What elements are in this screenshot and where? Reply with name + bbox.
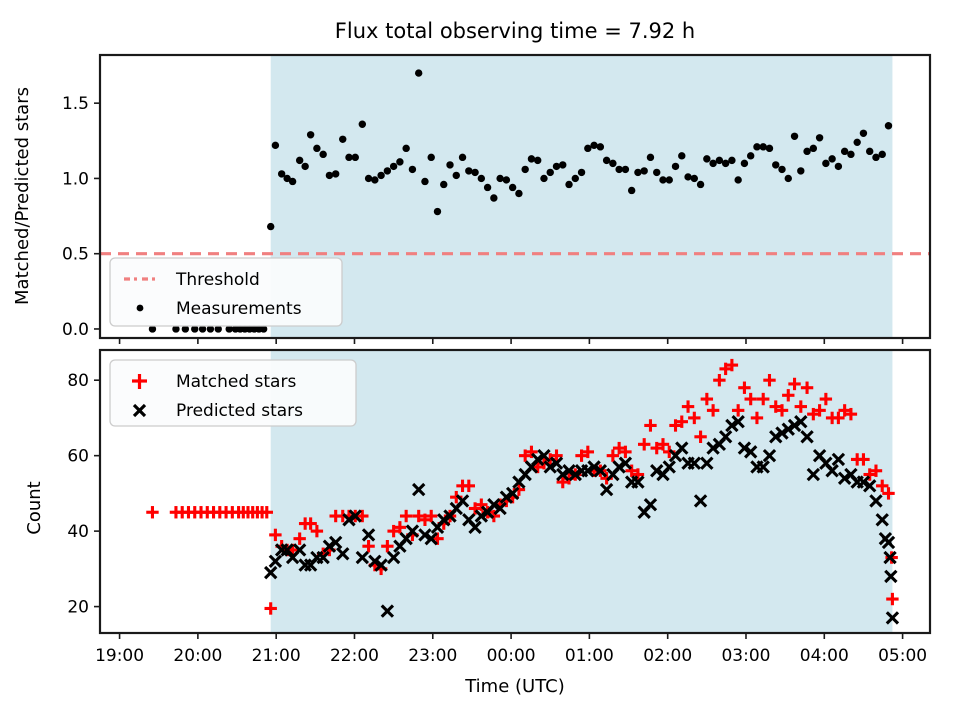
data-point bbox=[628, 187, 635, 194]
y-tick-label: 0.0 bbox=[62, 320, 89, 340]
data-point bbox=[446, 161, 453, 168]
data-point bbox=[352, 154, 359, 161]
data-point bbox=[484, 184, 491, 191]
y-tick-label: 20 bbox=[67, 598, 89, 618]
x-tick-label: 01:00 bbox=[565, 646, 614, 666]
data-point bbox=[785, 175, 792, 182]
data-point bbox=[747, 152, 754, 159]
data-point bbox=[828, 155, 835, 162]
data-point bbox=[359, 121, 366, 128]
data-point bbox=[377, 172, 384, 179]
data-point bbox=[421, 178, 428, 185]
data-point bbox=[609, 160, 616, 167]
data-point bbox=[810, 145, 817, 152]
data-point bbox=[509, 184, 516, 191]
data-point bbox=[478, 175, 485, 182]
data-point bbox=[319, 151, 326, 158]
x-tick-label: 05:00 bbox=[878, 646, 927, 666]
data-point bbox=[307, 131, 314, 138]
data-point bbox=[835, 163, 842, 170]
y-tick-label: 40 bbox=[67, 522, 89, 542]
data-point bbox=[440, 181, 447, 188]
y-tick-label: 1.5 bbox=[62, 94, 89, 114]
x-tick-label: 21:00 bbox=[252, 646, 301, 666]
data-point bbox=[371, 176, 378, 183]
data-point bbox=[703, 155, 710, 162]
data-point bbox=[515, 190, 522, 197]
data-point bbox=[622, 166, 629, 173]
x-axis-label: Time (UTC) bbox=[464, 676, 565, 697]
data-point bbox=[760, 143, 767, 150]
chart-canvas: Flux total observing time = 7.92 h 0.00.… bbox=[0, 0, 960, 720]
data-point bbox=[326, 172, 333, 179]
data-point bbox=[313, 145, 320, 152]
data-point bbox=[272, 142, 279, 149]
data-point bbox=[728, 157, 735, 164]
data-point bbox=[496, 175, 503, 182]
data-point bbox=[634, 169, 641, 176]
x-tick-label: 03:00 bbox=[721, 646, 770, 666]
data-point bbox=[332, 170, 339, 177]
data-point bbox=[402, 145, 409, 152]
x-tick-label: 00:00 bbox=[487, 646, 536, 666]
measurements-legend-swatch bbox=[137, 305, 144, 312]
legend-item-predicted-stars[interactable]: Predicted stars bbox=[176, 401, 303, 421]
legend-item-threshold[interactable]: Threshold bbox=[175, 270, 260, 290]
data-point bbox=[647, 154, 654, 161]
data-point bbox=[691, 175, 698, 182]
data-point bbox=[791, 133, 798, 140]
observing-window-shade-top bbox=[271, 55, 893, 338]
bottom-panel-legend[interactable]: Matched stars Predicted stars bbox=[110, 360, 356, 426]
data-point bbox=[547, 169, 554, 176]
data-point bbox=[797, 167, 804, 174]
data-point bbox=[528, 155, 535, 162]
data-point bbox=[459, 154, 466, 161]
data-point bbox=[296, 157, 303, 164]
data-point bbox=[640, 167, 647, 174]
data-point bbox=[860, 130, 867, 137]
data-point bbox=[741, 160, 748, 167]
legend-item-measurements[interactable]: Measurements bbox=[176, 299, 302, 319]
data-point bbox=[409, 166, 416, 173]
data-point bbox=[572, 175, 579, 182]
data-point bbox=[301, 163, 308, 170]
data-point bbox=[553, 163, 560, 170]
bottom-panel-y-axis-label: Count bbox=[24, 481, 45, 534]
data-point bbox=[471, 169, 478, 176]
data-point bbox=[559, 161, 566, 168]
legend-item-matched-stars[interactable]: Matched stars bbox=[176, 372, 296, 392]
data-point bbox=[678, 152, 685, 159]
x-tick-label: 02:00 bbox=[643, 646, 692, 666]
data-point bbox=[453, 172, 460, 179]
observing-window-shade-bottom bbox=[271, 350, 893, 633]
data-point bbox=[653, 169, 660, 176]
data-point bbox=[384, 167, 391, 174]
data-point bbox=[666, 176, 673, 183]
x-tick-label: 19:00 bbox=[95, 646, 144, 666]
x-tick-label: 04:00 bbox=[800, 646, 849, 666]
data-point bbox=[672, 163, 679, 170]
data-point bbox=[339, 136, 346, 143]
data-point bbox=[465, 167, 472, 174]
y-tick-label: 80 bbox=[67, 371, 89, 391]
data-point bbox=[267, 223, 274, 230]
page-title: Flux total observing time = 7.92 h bbox=[335, 19, 695, 43]
data-point bbox=[734, 176, 741, 183]
data-point bbox=[415, 69, 422, 76]
top-panel-legend[interactable]: Threshold Measurements bbox=[110, 258, 342, 326]
data-point bbox=[540, 175, 547, 182]
data-point bbox=[565, 181, 572, 188]
y-tick-label: 60 bbox=[67, 447, 89, 467]
data-point bbox=[816, 134, 823, 141]
data-point bbox=[534, 157, 541, 164]
data-point bbox=[390, 163, 397, 170]
data-point bbox=[578, 169, 585, 176]
data-point bbox=[503, 176, 510, 183]
data-point bbox=[521, 166, 528, 173]
data-point bbox=[866, 148, 873, 155]
data-point bbox=[434, 208, 441, 215]
data-point bbox=[766, 145, 773, 152]
matplotlib-figure: Flux total observing time = 7.92 h 0.00.… bbox=[0, 0, 960, 720]
data-point bbox=[428, 154, 435, 161]
data-point bbox=[879, 151, 886, 158]
x-tick-label: 20:00 bbox=[173, 646, 222, 666]
data-point bbox=[822, 160, 829, 167]
data-point bbox=[697, 181, 704, 188]
data-point bbox=[772, 161, 779, 168]
top-panel-y-axis-label: Matched/Predicted stars bbox=[12, 87, 33, 305]
x-tick-label: 22:00 bbox=[330, 646, 379, 666]
data-point bbox=[847, 151, 854, 158]
data-point bbox=[778, 166, 785, 173]
data-point bbox=[396, 158, 403, 165]
y-tick-label: 1.0 bbox=[62, 169, 89, 189]
data-point bbox=[885, 122, 892, 129]
data-point bbox=[289, 178, 296, 185]
x-axis-tick-labels: 19:0020:0021:0022:0023:0000:0001:0002:00… bbox=[95, 646, 927, 666]
x-tick-label: 23:00 bbox=[408, 646, 457, 666]
data-point bbox=[365, 175, 372, 182]
data-point bbox=[490, 194, 497, 201]
data-point bbox=[590, 142, 597, 149]
data-point bbox=[853, 139, 860, 146]
y-tick-label: 0.5 bbox=[62, 245, 89, 265]
data-point bbox=[597, 143, 604, 150]
data-point bbox=[684, 173, 691, 180]
